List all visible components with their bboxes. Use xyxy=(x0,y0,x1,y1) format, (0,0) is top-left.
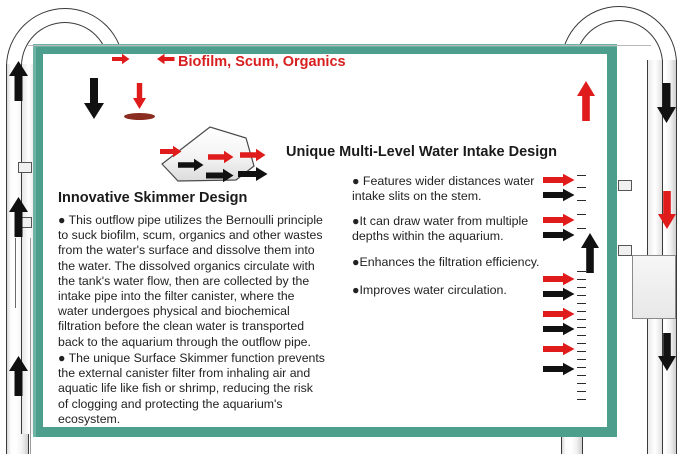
intake-slit xyxy=(577,295,586,298)
intake-slit xyxy=(577,279,586,282)
skimmer-red-collar xyxy=(124,113,155,120)
intake-slit xyxy=(577,375,586,378)
intake-slit xyxy=(577,187,586,190)
outflow-fitting-upper xyxy=(18,162,32,173)
black-flow-arrow xyxy=(238,166,268,182)
right-bullet-1: ● Features wider distances water intake … xyxy=(352,174,540,205)
right-bullet-3: ●Enhances the filtration efficiency. xyxy=(352,255,552,270)
red-flow-arrow xyxy=(543,342,575,356)
water-surface-line xyxy=(28,45,651,46)
right-bullet-2: ●It can draw water from multiple depths … xyxy=(352,214,542,245)
left-section-paragraph-1: ● This outflow pipe utilizes the Bernoul… xyxy=(58,213,326,350)
intake-slit xyxy=(577,214,586,217)
black-flow-arrow xyxy=(580,232,600,274)
left-section-paragraph-2: ● The unique Surface Skimmer function pr… xyxy=(58,351,326,427)
outflow-lower-extension-2 xyxy=(30,238,31,454)
black-flow-arrow xyxy=(206,168,234,183)
intake-slit xyxy=(577,303,586,306)
red-flow-arrow xyxy=(240,148,266,162)
black-flow-arrow xyxy=(83,76,105,120)
red-flow-arrow xyxy=(208,150,234,164)
black-flow-arrow xyxy=(543,362,575,376)
black-flow-arrow xyxy=(8,196,29,238)
red-flow-arrow xyxy=(543,307,575,321)
intake-slit xyxy=(577,311,586,314)
red-flow-arrow xyxy=(157,53,175,65)
red-flow-arrow xyxy=(112,53,130,65)
intake-slit xyxy=(577,287,586,290)
surface-callout-label: Biofilm, Scum, Organics xyxy=(178,54,346,70)
black-flow-arrow xyxy=(8,355,29,397)
red-flow-arrow xyxy=(543,213,575,227)
outflow-lower-extension xyxy=(15,238,16,308)
intake-fitting-lower xyxy=(618,245,632,256)
intake-slit xyxy=(577,399,586,402)
intake-slit xyxy=(577,391,586,394)
intake-slit xyxy=(577,343,586,346)
intake-slit xyxy=(577,228,586,231)
intake-slit xyxy=(577,367,586,370)
intake-sleeve xyxy=(632,255,676,319)
black-flow-arrow xyxy=(656,82,677,124)
right-section-title: Unique Multi-Level Water Intake Design xyxy=(286,144,557,160)
black-flow-arrow xyxy=(543,322,575,336)
black-flow-arrow xyxy=(543,228,575,242)
intake-slit xyxy=(577,359,586,362)
black-flow-arrow xyxy=(543,188,575,202)
red-flow-arrow xyxy=(576,80,596,122)
intake-slit xyxy=(577,351,586,354)
red-flow-arrow xyxy=(657,190,677,230)
intake-slit xyxy=(577,175,586,178)
intake-slit xyxy=(577,327,586,330)
red-flow-arrow xyxy=(543,173,575,187)
intake-slit xyxy=(577,319,586,322)
red-flow-arrow xyxy=(160,145,182,158)
right-bullet-4: ●Improves water circulation. xyxy=(352,283,552,298)
black-flow-arrow xyxy=(178,158,204,172)
intake-fitting-upper xyxy=(618,180,632,191)
red-flow-arrow xyxy=(132,82,147,110)
intake-slit xyxy=(577,200,586,203)
diagram-canvas: Biofilm, Scum, Organics Innovative Skimm… xyxy=(0,0,679,454)
black-flow-arrow xyxy=(657,332,677,372)
intake-slit xyxy=(577,383,586,386)
intake-slit xyxy=(577,335,586,338)
left-section-title: Innovative Skimmer Design xyxy=(58,190,247,206)
black-flow-arrow xyxy=(8,60,29,102)
